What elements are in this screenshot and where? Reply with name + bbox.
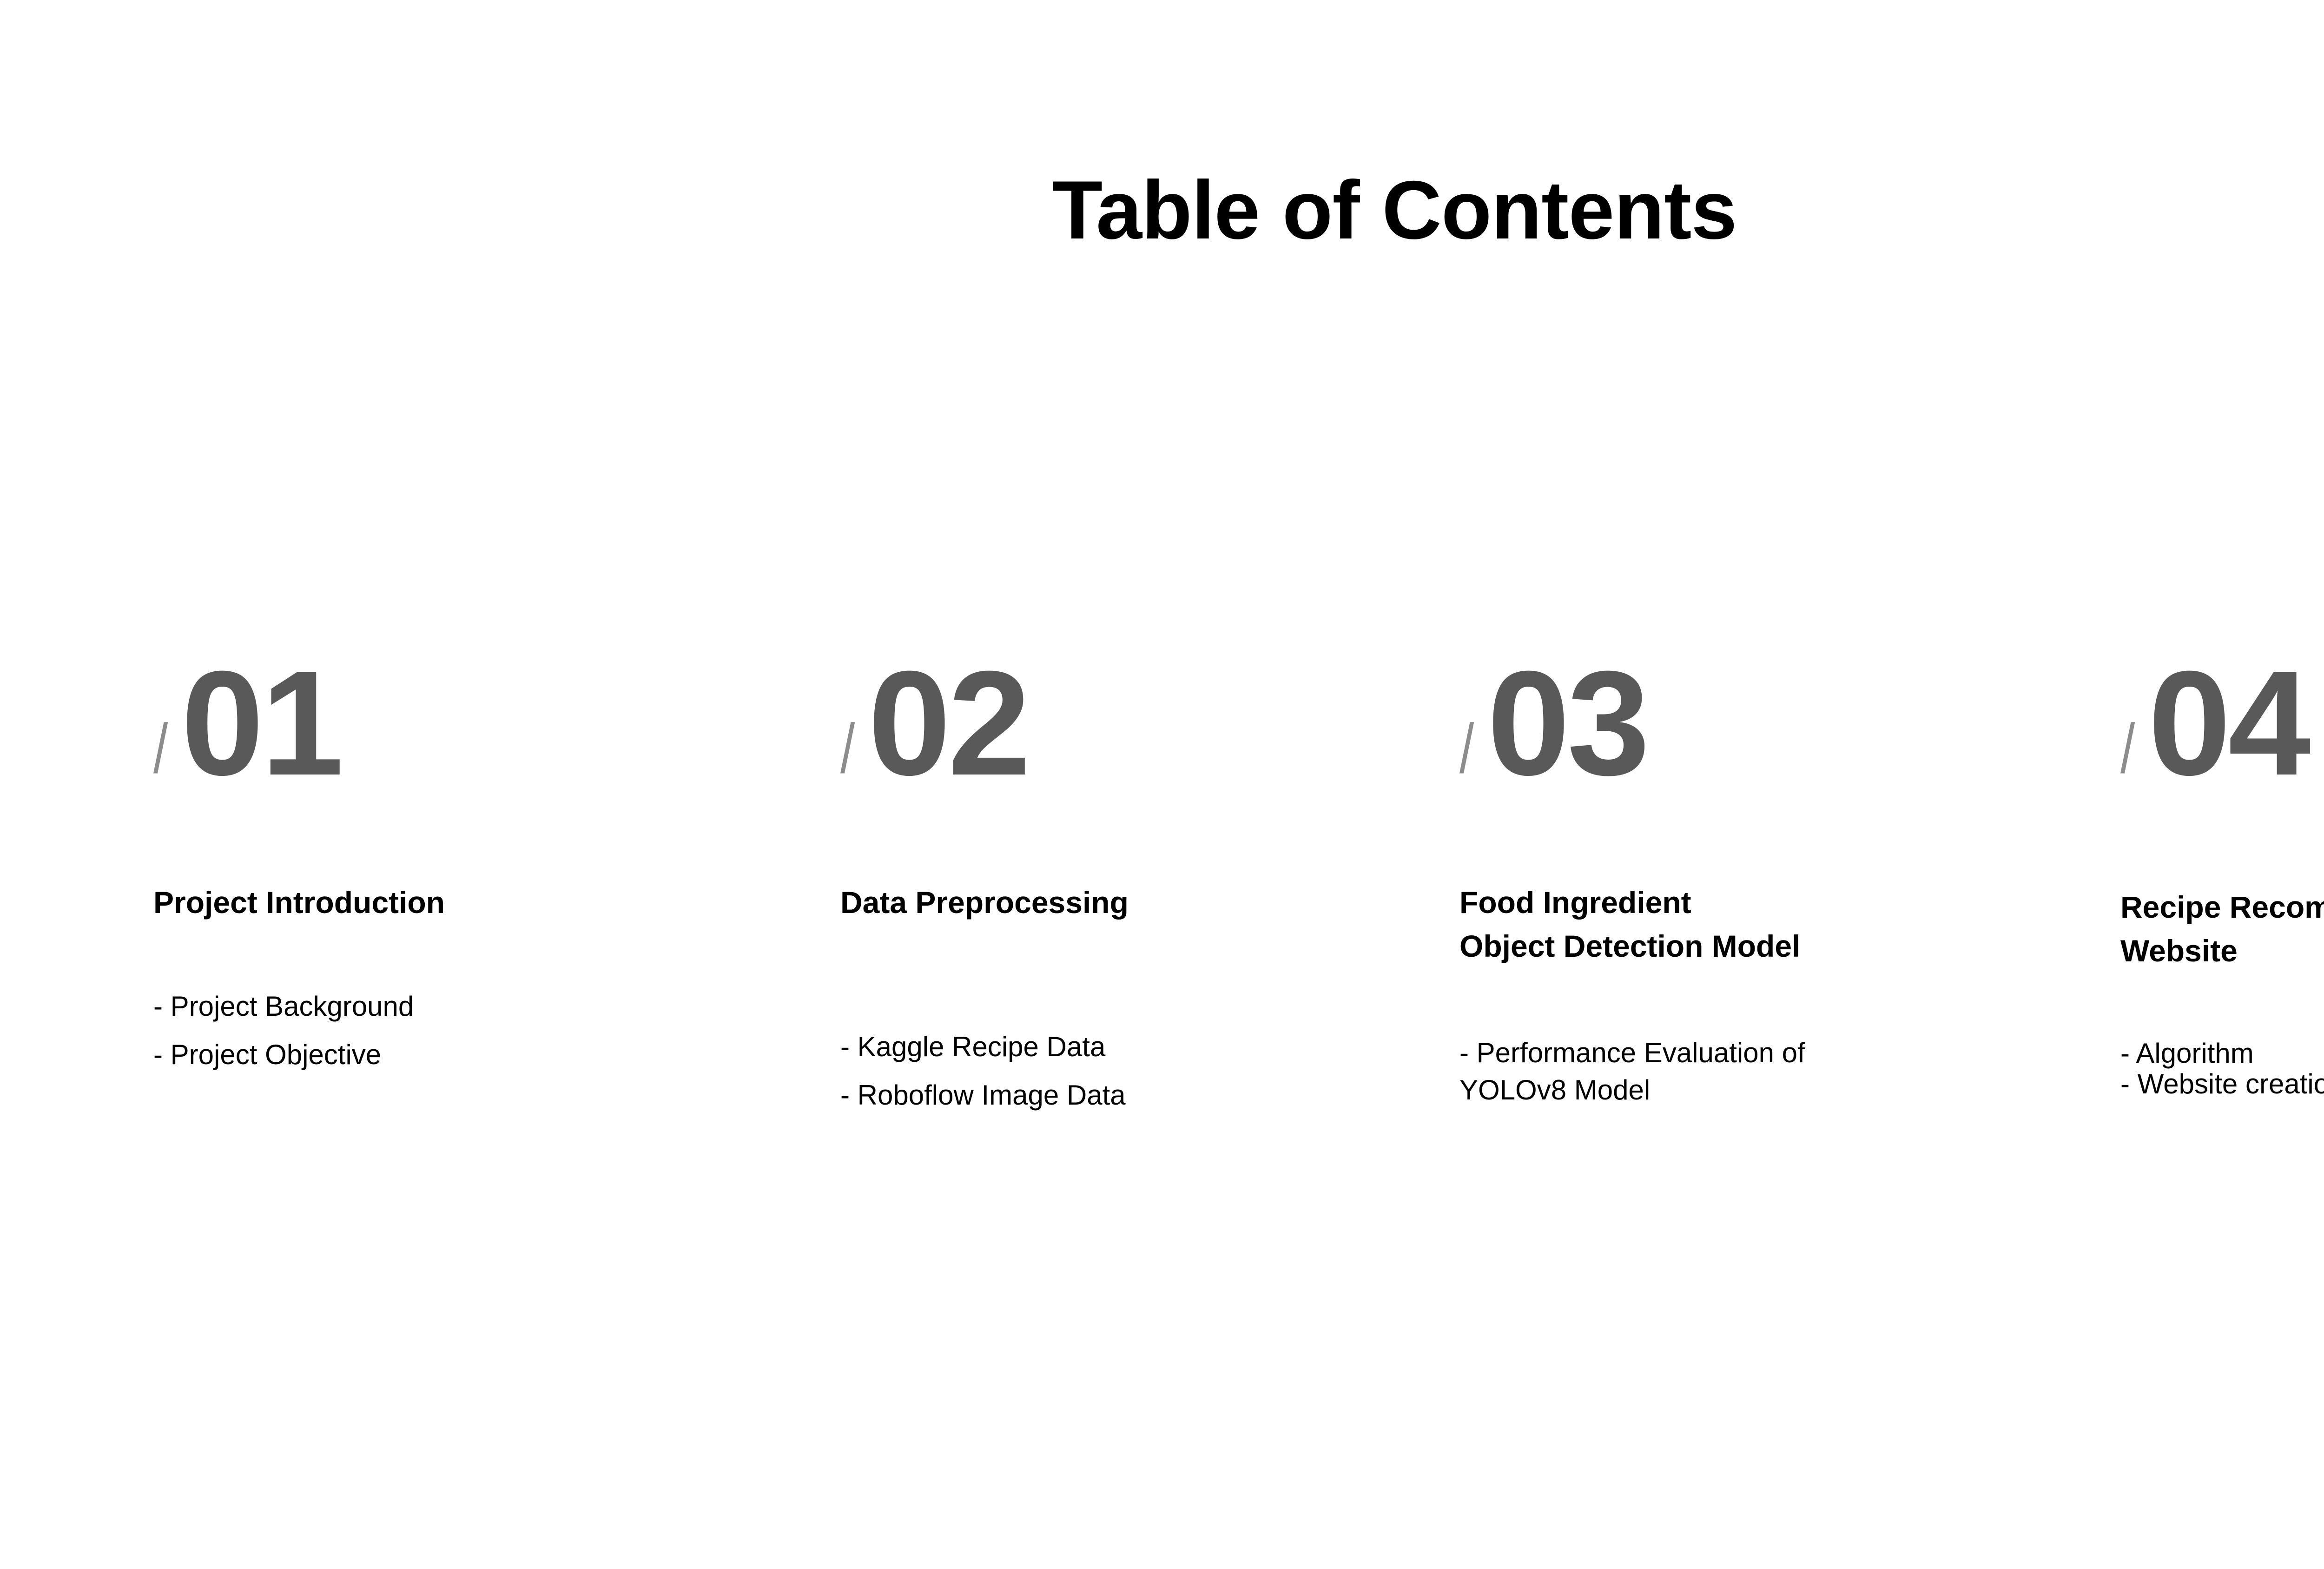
section-number: 01 <box>181 649 341 797</box>
page-title: Table of Contents <box>0 164 2324 256</box>
section-number: 03 <box>1487 649 1647 797</box>
slash-icon: / <box>1459 708 1474 789</box>
section-number-block-01: /01 <box>153 649 813 834</box>
toc-section-03: /03 Food Ingredient Object Detection Mod… <box>1459 649 2110 834</box>
section-bullet-list: - Performance Evaluation of YOLOv8 Model <box>1459 1034 1805 1109</box>
section-heading: Recipe Recommendation Website <box>2120 886 2324 973</box>
section-heading: Food Ingredient Object Detection Model <box>1459 881 1800 968</box>
section-number: 02 <box>868 649 1028 797</box>
section-bullet-list: - Project Background - Project Objective <box>153 982 414 1079</box>
section-number-block-03: /03 <box>1459 649 2110 834</box>
section-heading: Project Introduction <box>153 881 445 925</box>
slash-icon: / <box>2120 708 2135 789</box>
section-number: 04 <box>2148 649 2308 797</box>
slash-icon: / <box>153 708 168 789</box>
toc-section-01: /01 Project Introduction - Project Backg… <box>153 649 813 834</box>
toc-section-02: /02 Data Preprocessing - Kaggle Recipe D… <box>840 649 1445 834</box>
slash-icon: / <box>840 708 855 789</box>
section-bullet-list: - Kaggle Recipe Data - Roboflow Image Da… <box>840 1023 1126 1119</box>
section-number-block-02: /02 <box>840 649 1445 834</box>
section-bullet-list: - Algorithm - Website creation using Fla… <box>2120 1038 2324 1099</box>
section-number-block-04: /04 <box>2120 649 2324 834</box>
slide-canvas: Table of Contents /01 Project Introducti… <box>0 0 2324 1569</box>
toc-section-04: /04 Recipe Recommendation Website - Algo… <box>2120 649 2324 834</box>
section-heading: Data Preprocessing <box>840 881 1129 925</box>
